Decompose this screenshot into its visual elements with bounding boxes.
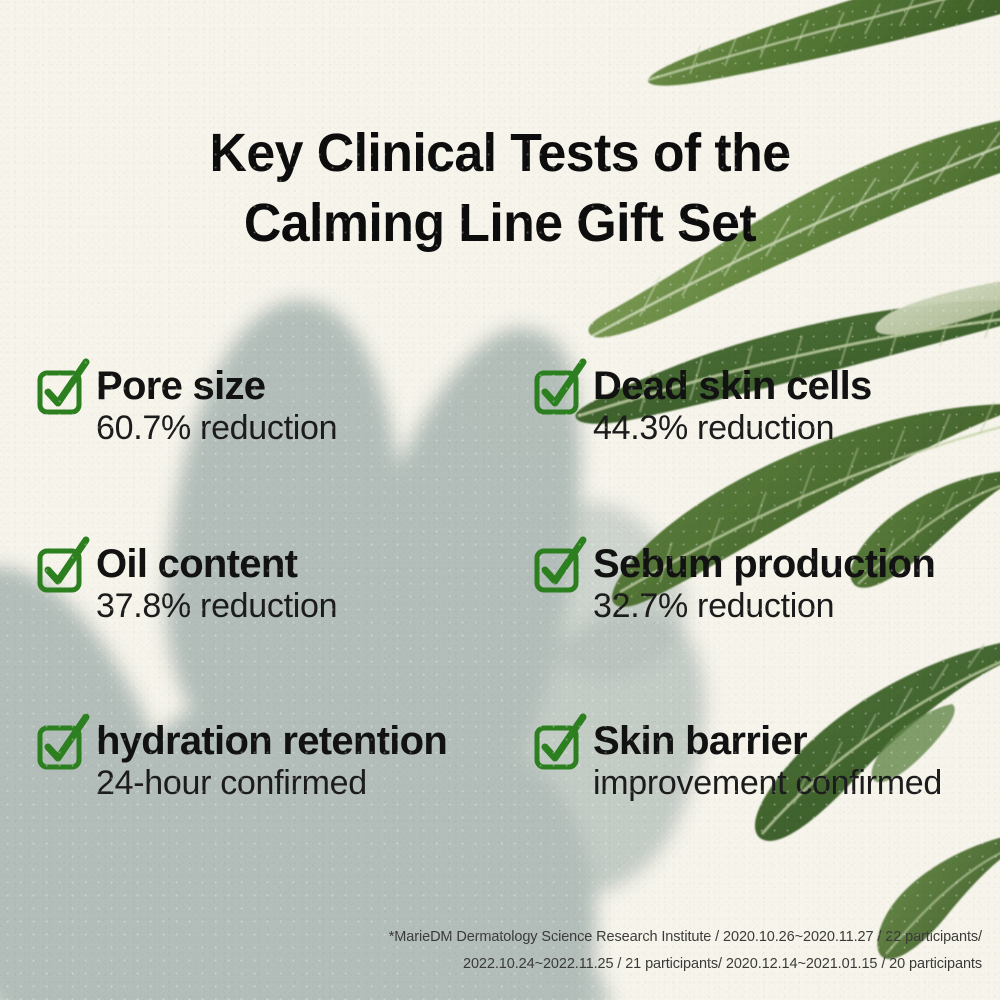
result-item-oil-content: Oil content 37.8% reduction bbox=[36, 544, 337, 626]
footnote-line-2: 2022.10.24~2022.11.25 / 21 participants/… bbox=[282, 951, 982, 978]
result-value: 60.7% reduction bbox=[96, 409, 337, 447]
promo-banner: Key Clinical Tests of the Calming Line G… bbox=[0, 0, 1000, 1000]
footnote: *MarieDM Dermatology Science Research In… bbox=[282, 924, 982, 978]
result-item-sebum-production: Sebum production 32.7% reduction bbox=[533, 544, 935, 626]
result-label: Oil content bbox=[96, 542, 297, 586]
result-item-skin-barrier: Skin barrier improvement confirmed bbox=[533, 721, 942, 803]
result-label: Dead skin cells bbox=[593, 364, 872, 408]
result-value: 32.7% reduction bbox=[593, 587, 834, 625]
checkbox-check-icon bbox=[533, 546, 579, 592]
results-grid: Pore size 60.7% reduction Dead skin cell… bbox=[0, 0, 1000, 1000]
result-value: 24-hour confirmed bbox=[96, 764, 367, 802]
result-label: Sebum production bbox=[593, 542, 935, 586]
result-value: improvement confirmed bbox=[593, 764, 942, 802]
checkbox-check-icon bbox=[36, 546, 82, 592]
checkbox-check-icon bbox=[533, 368, 579, 414]
checkbox-check-icon bbox=[36, 368, 82, 414]
result-label: hydration retention bbox=[96, 719, 447, 763]
result-label: Pore size bbox=[96, 364, 265, 408]
checkbox-check-icon bbox=[533, 723, 579, 769]
result-item-pore-size: Pore size 60.7% reduction bbox=[36, 366, 337, 448]
checkbox-check-icon bbox=[36, 723, 82, 769]
footnote-line-1: *MarieDM Dermatology Science Research In… bbox=[282, 924, 982, 951]
result-item-dead-skin-cells: Dead skin cells 44.3% reduction bbox=[533, 366, 872, 448]
result-value: 37.8% reduction bbox=[96, 587, 337, 625]
result-value: 44.3% reduction bbox=[593, 409, 834, 447]
result-label: Skin barrier bbox=[593, 719, 807, 763]
result-item-hydration-retention: hydration retention 24-hour confirmed bbox=[36, 721, 447, 803]
